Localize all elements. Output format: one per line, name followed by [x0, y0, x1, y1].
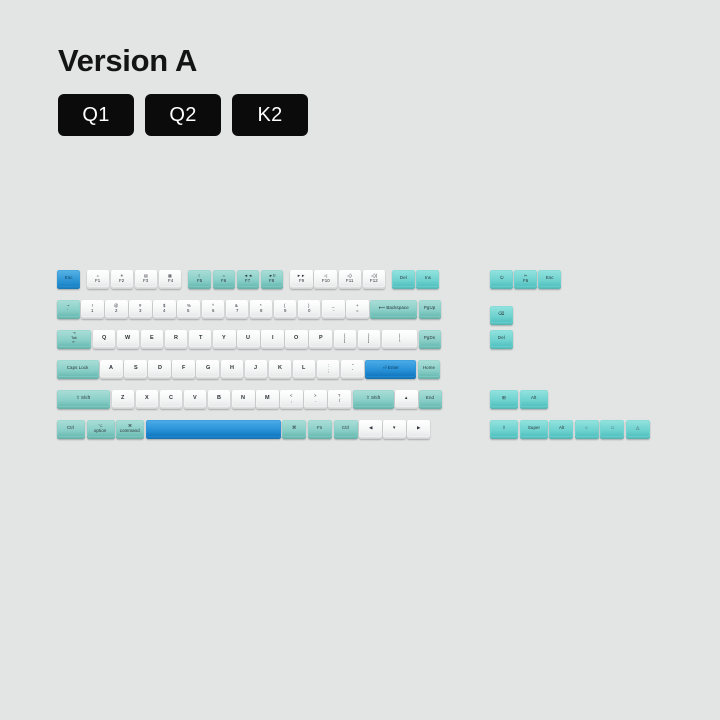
page-title: Version A	[58, 44, 308, 78]
key-rbracket[interactable]: }]	[358, 330, 381, 349]
key-period[interactable]: >.	[304, 390, 327, 409]
key-k[interactable]: K	[269, 360, 292, 379]
key-legend-bottom: F1	[95, 279, 100, 283]
key-x[interactable]: X	[136, 390, 159, 409]
key-legend: A	[109, 366, 113, 372]
key-arrow-up[interactable]: ▲	[395, 390, 418, 409]
key-alt-top[interactable]: Alt	[520, 390, 548, 409]
key-equal[interactable]: +=	[346, 300, 369, 319]
key-legend-stack: (9	[284, 304, 287, 314]
key-legend: ⟵ Backspace	[379, 306, 409, 310]
key-legend: O	[294, 336, 298, 342]
key-legend-stack: >.	[314, 394, 317, 404]
key-legend: D	[157, 366, 161, 372]
key-o[interactable]: O	[285, 330, 308, 349]
key-six[interactable]: ^6	[202, 300, 225, 319]
keyrow-extras-second-row: ⌫	[490, 306, 514, 325]
keyrow-function-row: Esc☼F1☀F2▤F3▦F4☾F5☼F6◄◄F7►IIF8►►F9◁F10◁)…	[57, 270, 440, 289]
key-legend-stack: *8	[260, 304, 263, 314]
key-tab[interactable]: ⇥Tab⇤	[57, 330, 91, 349]
key-f1[interactable]: ☼F1	[87, 270, 110, 289]
key-lbracket[interactable]: {[	[334, 330, 357, 349]
key-end[interactable]: End	[419, 390, 442, 409]
key-legend-stack: ◁))F12	[370, 274, 378, 284]
key-legend: J	[254, 366, 257, 372]
key-legend-stack: ~`	[67, 304, 70, 314]
key-legend: Del	[498, 336, 505, 340]
keyrow-extras-third-row: Del	[490, 330, 514, 349]
key-gap	[81, 270, 87, 289]
compatibility-badges: Q1 Q2 K2	[58, 94, 308, 136]
key-legend: ⏻	[499, 276, 503, 280]
key-legend-stack: $4	[163, 304, 166, 314]
key-legend-stack: ▦F4	[168, 274, 173, 284]
key-legend: B	[217, 396, 221, 402]
key-legend-bottom: F3	[143, 279, 148, 283]
key-legend: Fn	[317, 426, 322, 430]
key-l[interactable]: L	[293, 360, 316, 379]
key-legend: Super	[527, 426, 539, 430]
key-legend: S	[134, 366, 138, 372]
keyrow-shift-row: ⇧ ShiftZXCVBNM<,>.?/⇧ Shift▲End	[57, 390, 443, 409]
key-legend-bottom: /	[339, 399, 340, 403]
key-comma[interactable]: <,	[280, 390, 303, 409]
key-legend-stack: ☾F5	[197, 274, 202, 284]
key-legend: Esc	[546, 276, 554, 280]
key-legend-line: ⇤	[73, 341, 76, 345]
key-circle[interactable]: ○	[575, 420, 599, 439]
key-shift-alt[interactable]: ⇧	[490, 420, 518, 439]
key-f7[interactable]: ◄◄F7	[237, 270, 260, 289]
key-legend-bottom: [	[344, 339, 345, 343]
key-four[interactable]: $4	[153, 300, 176, 319]
key-legend: Alt	[558, 426, 563, 430]
key-legend-bottom: 9	[284, 309, 287, 313]
key-legend: T	[198, 336, 201, 342]
key-legend-stack: ◄◄F7	[244, 274, 252, 284]
key-legend: ⇧ Shift	[366, 396, 380, 400]
key-legend-bottom: -	[332, 309, 334, 313]
key-legend: ⌘	[292, 426, 296, 430]
key-legend-bottom: F12	[370, 279, 378, 283]
key-f9[interactable]: ►►F9	[290, 270, 313, 289]
key-backspace[interactable]: ⟵ Backspace	[370, 300, 417, 319]
key-b[interactable]: B	[208, 390, 231, 409]
key-t[interactable]: T	[189, 330, 212, 349]
key-f10[interactable]: ◁F10	[314, 270, 337, 289]
key-r[interactable]: R	[165, 330, 188, 349]
key-home[interactable]: Home	[418, 360, 441, 379]
key-legend: Home	[423, 366, 435, 370]
key-rshift[interactable]: ⇧ Shift	[353, 390, 394, 409]
key-arrow-right[interactable]: ▶	[407, 420, 430, 439]
key-f12[interactable]: ◁))F12	[363, 270, 386, 289]
key-legend: G	[206, 366, 210, 372]
key-m[interactable]: M	[256, 390, 279, 409]
key-semicolon[interactable]: :;	[317, 360, 340, 379]
key-f6[interactable]: ☼F6	[213, 270, 236, 289]
key-legend-bottom: .	[315, 399, 316, 403]
key-legend-stack: |\	[399, 334, 400, 344]
keyrow-extras-bottom-row: ⇧SuperAlt○□△	[490, 420, 652, 439]
key-legend-stack: %5	[187, 304, 191, 314]
key-n[interactable]: N	[232, 390, 255, 409]
key-super[interactable]: Super	[520, 420, 548, 439]
key-w[interactable]: W	[117, 330, 140, 349]
key-v[interactable]: V	[184, 390, 207, 409]
keyrow-bottom-row: Ctrl⌥option⌘command⌘FnCtrl◀▼▶	[57, 420, 431, 439]
key-legend-bottom: 1	[91, 309, 94, 313]
key-legend: ⇧ Shift	[76, 396, 90, 400]
key-legend: E	[150, 336, 154, 342]
key-legend-bottom: option	[94, 429, 107, 433]
key-legend: Del	[400, 276, 407, 280]
key-legend-stack: ◁F10	[322, 274, 330, 284]
key-legend-bottom: F4	[167, 279, 172, 283]
key-u[interactable]: U	[237, 330, 260, 349]
keyrow-number-row: ~`!1@2#3$4%5^6&7*8(9)0_-+=⟵ BackspacePgU…	[57, 300, 443, 319]
key-rctrl[interactable]: Ctrl	[334, 420, 358, 439]
key-legend: ▲	[404, 396, 408, 400]
key-legend: △	[636, 426, 639, 430]
key-screenshot[interactable]: ✂F6	[514, 270, 537, 289]
key-legend: P	[319, 336, 323, 342]
key-legend-stack: )0	[308, 304, 311, 314]
key-legend-bottom: ,	[291, 399, 292, 403]
key-legend-stack: ◁)F11	[346, 274, 353, 284]
key-legend-stack: {[	[344, 334, 345, 344]
key-legend-stack: @2	[114, 304, 118, 314]
key-one[interactable]: !1	[81, 300, 104, 319]
key-zero[interactable]: )0	[298, 300, 321, 319]
key-legend: L	[302, 366, 305, 372]
key-rcommand[interactable]: ⌘	[282, 420, 306, 439]
key-f4[interactable]: ▦F4	[159, 270, 182, 289]
key-legend-bottom: 0	[308, 309, 311, 313]
key-del-alt[interactable]: Del	[490, 330, 513, 349]
key-legend: F	[182, 366, 185, 372]
key-three[interactable]: #3	[129, 300, 152, 319]
key-two[interactable]: @2	[105, 300, 128, 319]
key-legend: ◀	[369, 426, 372, 430]
key-legend: Q	[102, 336, 106, 342]
key-legend-bottom: 3	[139, 309, 142, 313]
key-legend-bottom: 5	[187, 309, 190, 313]
key-legend: Ins	[424, 276, 430, 280]
key-legend: V	[193, 396, 197, 402]
key-s[interactable]: S	[124, 360, 147, 379]
key-space[interactable]	[146, 420, 281, 439]
key-legend-bottom: 2	[115, 309, 118, 313]
key-j[interactable]: J	[245, 360, 268, 379]
key-square[interactable]: □	[600, 420, 624, 439]
key-alt[interactable]: Alt	[549, 420, 573, 439]
key-loption[interactable]: ⌥option	[87, 420, 115, 439]
key-del[interactable]: Del	[392, 270, 415, 289]
key-d[interactable]: D	[148, 360, 171, 379]
key-legend: N	[241, 396, 245, 402]
key-tilde[interactable]: ~`	[57, 300, 80, 319]
key-backslash[interactable]: |\	[382, 330, 418, 349]
badge-k2[interactable]: K2	[232, 94, 308, 136]
key-legend: Alt	[531, 396, 536, 400]
key-f5[interactable]: ☾F5	[188, 270, 211, 289]
key-enter[interactable]: ⏎ Enter	[365, 360, 416, 379]
key-legend: ⌫	[498, 312, 504, 316]
key-legend-bottom: F5	[197, 279, 202, 283]
key-legend: Ctrl	[342, 426, 349, 430]
key-e[interactable]: E	[141, 330, 164, 349]
key-legend: ⊞	[502, 396, 506, 400]
key-legend-bottom: F2	[119, 279, 124, 283]
key-legend-stack: ☼F6	[221, 274, 226, 284]
header-block: Version A Q1 Q2 K2	[58, 44, 308, 136]
key-a[interactable]: A	[100, 360, 123, 379]
badge-q2[interactable]: Q2	[145, 94, 221, 136]
key-legend: W	[125, 336, 130, 342]
keyrow-extras-mod-row: ⊞Alt	[490, 390, 549, 409]
key-legend: PgUp	[424, 306, 435, 310]
key-legend-bottom: 6	[212, 309, 215, 313]
key-z[interactable]: Z	[112, 390, 135, 409]
key-g[interactable]: G	[196, 360, 219, 379]
key-legend-stack: ⇥Tab⇤	[71, 332, 77, 344]
key-seven[interactable]: &7	[226, 300, 249, 319]
keyrow-tab-row: ⇥Tab⇤QWERTYUIOP{[}]|\PgDn	[57, 330, 443, 349]
key-legend: ⇧	[502, 426, 506, 430]
key-esc-alt[interactable]: Esc	[538, 270, 561, 289]
key-legend: X	[145, 396, 149, 402]
key-legend-bottom: 4	[163, 309, 166, 313]
key-legend-stack: :;	[328, 364, 329, 374]
key-legend-bottom: \	[399, 339, 400, 343]
key-legend: H	[230, 366, 234, 372]
key-c[interactable]: C	[160, 390, 183, 409]
key-f[interactable]: F	[172, 360, 195, 379]
key-h[interactable]: H	[221, 360, 244, 379]
key-legend-bottom: F6	[221, 279, 226, 283]
key-legend: □	[611, 426, 614, 430]
key-i[interactable]: I	[261, 330, 284, 349]
key-legend: ▶	[417, 426, 420, 430]
key-power[interactable]: ⏻	[490, 270, 513, 289]
key-legend-bottom: '	[352, 369, 353, 373]
key-legend-stack: ⌘command	[120, 424, 140, 434]
key-legend: I	[272, 336, 274, 342]
key-fn[interactable]: Fn	[308, 420, 332, 439]
key-y[interactable]: Y	[213, 330, 236, 349]
badge-q1[interactable]: Q1	[58, 94, 134, 136]
key-ins[interactable]: Ins	[416, 270, 439, 289]
key-pgup[interactable]: PgUp	[419, 300, 442, 319]
key-legend: ○	[585, 426, 588, 430]
key-legend-stack: &7	[235, 304, 238, 314]
key-legend-bottom: `	[67, 309, 69, 313]
key-legend: ▼	[392, 426, 396, 430]
key-legend-bottom: ;	[328, 369, 329, 373]
key-f2[interactable]: ☀F2	[111, 270, 134, 289]
key-legend-bottom: ]	[368, 339, 369, 343]
key-legend-stack: "'	[352, 364, 354, 374]
key-legend: PgDn	[424, 336, 435, 340]
key-legend-stack: _-	[332, 304, 334, 314]
key-legend-bottom: F8	[269, 279, 274, 283]
key-legend-stack: ▤F3	[143, 274, 148, 284]
key-legend: End	[426, 396, 434, 400]
key-legend: Esc	[64, 276, 72, 280]
keycap-set-image: Esc☼F1☀F2▤F3▦F4☾F5☼F6◄◄F7►IIF8►►F9◁F10◁)…	[57, 270, 667, 450]
key-q[interactable]: Q	[93, 330, 116, 349]
key-triangle[interactable]: △	[626, 420, 650, 439]
key-legend: Caps Lock	[67, 366, 89, 370]
key-legend-bottom: 8	[260, 309, 263, 313]
key-legend-stack: <,	[290, 394, 293, 404]
key-backspace-alt[interactable]: ⌫	[490, 306, 513, 325]
key-legend: Ctrl	[67, 426, 74, 430]
key-legend-bottom: F7	[245, 279, 250, 283]
key-legend: Y	[222, 336, 226, 342]
key-legend-bottom: command	[120, 429, 140, 433]
key-legend-stack: ^6	[212, 304, 215, 314]
key-legend: ⏎ Enter	[383, 366, 399, 370]
key-legend-stack: }]	[368, 334, 369, 344]
key-legend-bottom: F11	[346, 279, 354, 283]
key-legend-stack: !1	[91, 304, 94, 314]
key-legend-bottom: F6	[523, 279, 528, 283]
key-arrow-left[interactable]: ◀	[359, 420, 382, 439]
key-pgdn[interactable]: PgDn	[419, 330, 442, 349]
key-f8[interactable]: ►IIF8	[261, 270, 284, 289]
key-legend-stack: ?/	[338, 394, 340, 404]
key-lctrl[interactable]: Ctrl	[57, 420, 85, 439]
key-win[interactable]: ⊞	[490, 390, 518, 409]
key-quote[interactable]: "'	[341, 360, 364, 379]
key-legend: U	[246, 336, 250, 342]
key-lshift[interactable]: ⇧ Shift	[57, 390, 110, 409]
key-f11[interactable]: ◁)F11	[339, 270, 362, 289]
key-esc[interactable]: Esc	[57, 270, 80, 289]
key-lcommand[interactable]: ⌘command	[116, 420, 144, 439]
key-legend-stack: ⌥option	[94, 424, 106, 434]
key-legend: Z	[121, 396, 124, 402]
key-arrow-down[interactable]: ▼	[383, 420, 406, 439]
keyrow-home-row: Caps LockASDFGHJKL:;"'⏎ EnterHome	[57, 360, 442, 379]
key-legend: K	[278, 366, 282, 372]
key-nine[interactable]: (9	[274, 300, 297, 319]
keyrow-extras-top-row: ⏻✂F6Esc	[490, 270, 562, 289]
key-slash[interactable]: ?/	[328, 390, 351, 409]
key-legend-bottom: =	[356, 309, 359, 313]
key-f3[interactable]: ▤F3	[135, 270, 158, 289]
key-legend-stack: ►IIF8	[269, 274, 276, 284]
key-legend-stack: ►►F9	[297, 274, 305, 284]
key-legend-stack: +=	[356, 304, 359, 314]
key-legend-bottom: 7	[236, 309, 239, 313]
key-legend-stack: ☀F2	[119, 274, 124, 284]
key-legend-stack: ☼F1	[95, 274, 100, 284]
key-legend-bottom: F9	[299, 279, 304, 283]
key-eight[interactable]: *8	[250, 300, 273, 319]
key-p[interactable]: P	[309, 330, 332, 349]
key-legend: R	[174, 336, 178, 342]
key-minus[interactable]: _-	[322, 300, 345, 319]
key-legend-stack: ✂F6	[523, 274, 528, 284]
key-capslock[interactable]: Caps Lock	[57, 360, 99, 379]
key-legend-stack: #3	[139, 304, 142, 314]
key-legend-bottom: F10	[322, 279, 330, 283]
key-legend: M	[265, 396, 270, 402]
key-five[interactable]: %5	[177, 300, 200, 319]
key-legend: C	[169, 396, 173, 402]
